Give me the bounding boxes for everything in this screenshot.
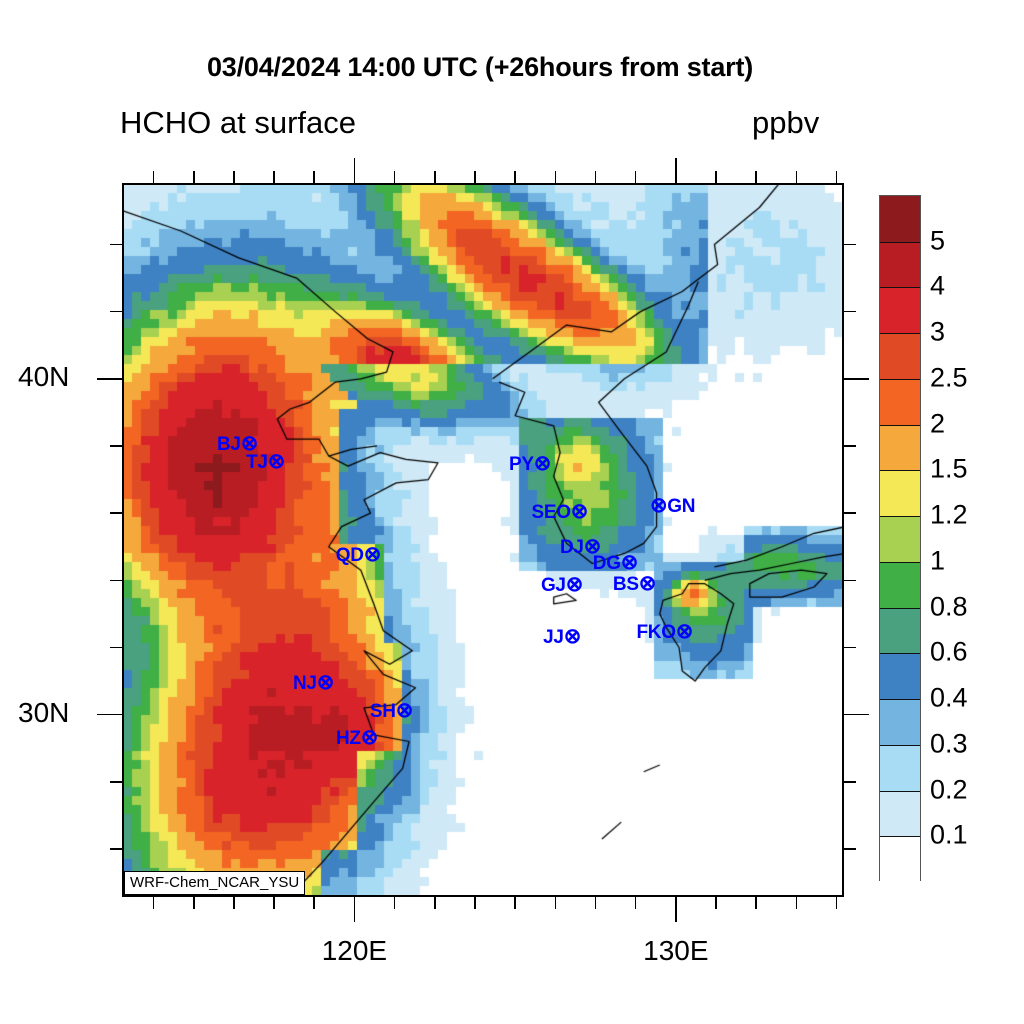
x-tick-minor (434, 896, 436, 909)
page-title: 03/04/2024 14:00 UTC (+26hours from star… (0, 52, 960, 83)
colorbar-tick-label: 1.5 (930, 454, 968, 485)
y-tick-major (97, 714, 123, 716)
x-tick-top (555, 171, 557, 184)
city-marker-nj: NJ⊗ (244, 672, 334, 693)
colorbar-band[interactable] (880, 791, 920, 838)
x-tick-top (354, 158, 356, 184)
x-tick-top (273, 171, 275, 184)
colorbar-band[interactable] (880, 333, 920, 380)
crossed-circle-icon: ⊗ (650, 494, 667, 517)
y-tick-right (843, 647, 856, 649)
y-tick-minor (110, 244, 123, 246)
colorbar[interactable] (879, 195, 921, 881)
y-tick-right (843, 378, 869, 380)
crossed-circle-icon: ⊗ (621, 551, 638, 574)
figure-hcho-surface-map: 03/04/2024 14:00 UTC (+26hours from star… (0, 0, 1024, 1024)
city-marker-py: PY⊗ (461, 453, 551, 474)
y-tick-right (843, 714, 869, 716)
x-tick-top (233, 171, 235, 184)
colorbar-band[interactable] (880, 653, 920, 700)
x-tick-minor (273, 896, 275, 909)
x-tick-top (514, 171, 516, 184)
colorbar-band[interactable] (880, 242, 920, 289)
model-annotation: WRF-Chem_NCAR_YSU (124, 871, 305, 895)
y-tick-minor (110, 848, 123, 850)
x-tick-top (635, 171, 637, 184)
y-tick-right (843, 512, 856, 514)
x-tick-top (675, 158, 677, 184)
crossed-circle-icon: ⊗ (676, 620, 693, 643)
colorbar-band[interactable] (880, 287, 920, 334)
y-tick-minor (110, 445, 123, 447)
x-tick-minor (514, 896, 516, 909)
city-marker-tj: TJ⊗ (195, 451, 285, 472)
y-tick-minor (110, 580, 123, 582)
x-tick-top (836, 171, 838, 184)
y-tick-right (843, 781, 856, 783)
x-tick-top (595, 171, 597, 184)
colorbar-tick-label: 5 (930, 225, 945, 256)
crossed-circle-icon: ⊗ (639, 572, 656, 595)
x-tick-top (796, 171, 798, 184)
city-label: GN (667, 496, 695, 517)
city-marker-hz: HZ⊗ (288, 727, 378, 748)
colorbar-band[interactable] (880, 745, 920, 792)
city-label: GJ (541, 575, 566, 596)
colorbar-band[interactable] (880, 425, 920, 472)
y-tick-right (843, 445, 856, 447)
variable-title: HCHO at surface (120, 105, 356, 141)
city-label: FKO (636, 622, 675, 643)
y-axis-label: 30N (18, 697, 69, 729)
x-tick-top (193, 171, 195, 184)
crossed-circle-icon: ⊗ (534, 452, 551, 475)
y-tick-minor (110, 512, 123, 514)
x-tick-minor (474, 896, 476, 909)
x-tick-minor (555, 896, 557, 909)
colorbar-band[interactable] (880, 379, 920, 426)
colorbar-band[interactable] (880, 608, 920, 655)
x-tick-minor (394, 896, 396, 909)
city-label: QD (336, 545, 364, 566)
x-tick-top (474, 171, 476, 184)
y-tick-right (843, 580, 856, 582)
colorbar-tick-label: 0.3 (930, 728, 968, 759)
city-marker-sh: SH⊗ (323, 700, 413, 721)
colorbar-tick-label: 0.4 (930, 683, 968, 714)
hcho-heatmap-canvas (123, 184, 843, 896)
city-label: TJ (246, 452, 268, 473)
colorbar-band[interactable] (880, 516, 920, 563)
x-tick-top (715, 171, 717, 184)
colorbar-band[interactable] (880, 836, 920, 883)
city-label: NJ (293, 673, 317, 694)
x-tick-minor (836, 896, 838, 909)
crossed-circle-icon: ⊗ (396, 699, 413, 722)
crossed-circle-icon: ⊗ (268, 450, 285, 473)
x-tick-top (394, 171, 396, 184)
city-marker-gn: ⊗GN (650, 495, 695, 516)
x-tick-major (675, 896, 677, 922)
x-tick-minor (193, 896, 195, 909)
crossed-circle-icon: ⊗ (361, 726, 378, 749)
y-axis-label: 40N (18, 361, 69, 393)
colorbar-tick-label: 4 (930, 271, 945, 302)
y-tick-right (843, 848, 856, 850)
city-label: DG (593, 553, 621, 574)
x-axis-label: 120E (314, 935, 394, 967)
x-tick-minor (755, 896, 757, 909)
x-tick-top (755, 171, 757, 184)
unit-label: ppbv (752, 105, 819, 141)
crossed-circle-icon: ⊗ (571, 500, 588, 523)
x-tick-minor (796, 896, 798, 909)
city-marker-jj: JJ⊗ (491, 626, 581, 647)
colorbar-tick-label: 0.8 (930, 591, 968, 622)
colorbar-tick-label: 0.2 (930, 774, 968, 805)
city-marker-qd: QD⊗ (291, 544, 381, 565)
crossed-circle-icon: ⊗ (364, 543, 381, 566)
crossed-circle-icon: ⊗ (317, 671, 334, 694)
x-tick-top (434, 171, 436, 184)
colorbar-band[interactable] (880, 196, 920, 242)
colorbar-tick-label: 1 (930, 545, 945, 576)
map-plot-area[interactable] (123, 184, 843, 896)
x-tick-top (313, 171, 315, 184)
city-label: SH (370, 701, 396, 722)
city-marker-fko: FKO⊗ (603, 621, 693, 642)
colorbar-tick-label: 0.6 (930, 637, 968, 668)
city-label: BS (613, 574, 639, 595)
city-marker-seo: SEO⊗ (498, 501, 588, 522)
x-tick-minor (715, 896, 717, 909)
colorbar-tick-label: 0.1 (930, 820, 968, 851)
colorbar-band[interactable] (880, 699, 920, 746)
y-tick-major (97, 378, 123, 380)
x-axis-label: 130E (636, 935, 716, 967)
city-marker-bs: BS⊗ (566, 573, 656, 594)
colorbar-tick-label: 3 (930, 317, 945, 348)
x-tick-minor (233, 896, 235, 909)
city-label: PY (509, 454, 534, 475)
city-marker-dg: DG⊗ (548, 552, 638, 573)
colorbar-tick-label: 2.5 (930, 362, 968, 393)
x-tick-minor (595, 896, 597, 909)
x-tick-minor (153, 896, 155, 909)
colorbar-tick-label: 2 (930, 408, 945, 439)
x-tick-major (354, 896, 356, 922)
y-tick-right (843, 244, 856, 246)
y-tick-right (843, 311, 856, 313)
y-tick-minor (110, 647, 123, 649)
x-tick-minor (313, 896, 315, 909)
city-label: JJ (543, 627, 564, 648)
y-tick-minor (110, 311, 123, 313)
x-tick-minor (635, 896, 637, 909)
colorbar-band[interactable] (880, 562, 920, 609)
colorbar-band[interactable] (880, 470, 920, 517)
y-tick-minor (110, 781, 123, 783)
colorbar-tick-label: 1.2 (930, 500, 968, 531)
city-label: HZ (336, 728, 361, 749)
x-tick-top (153, 171, 155, 184)
crossed-circle-icon: ⊗ (564, 625, 581, 648)
city-label: SEO (531, 502, 570, 523)
